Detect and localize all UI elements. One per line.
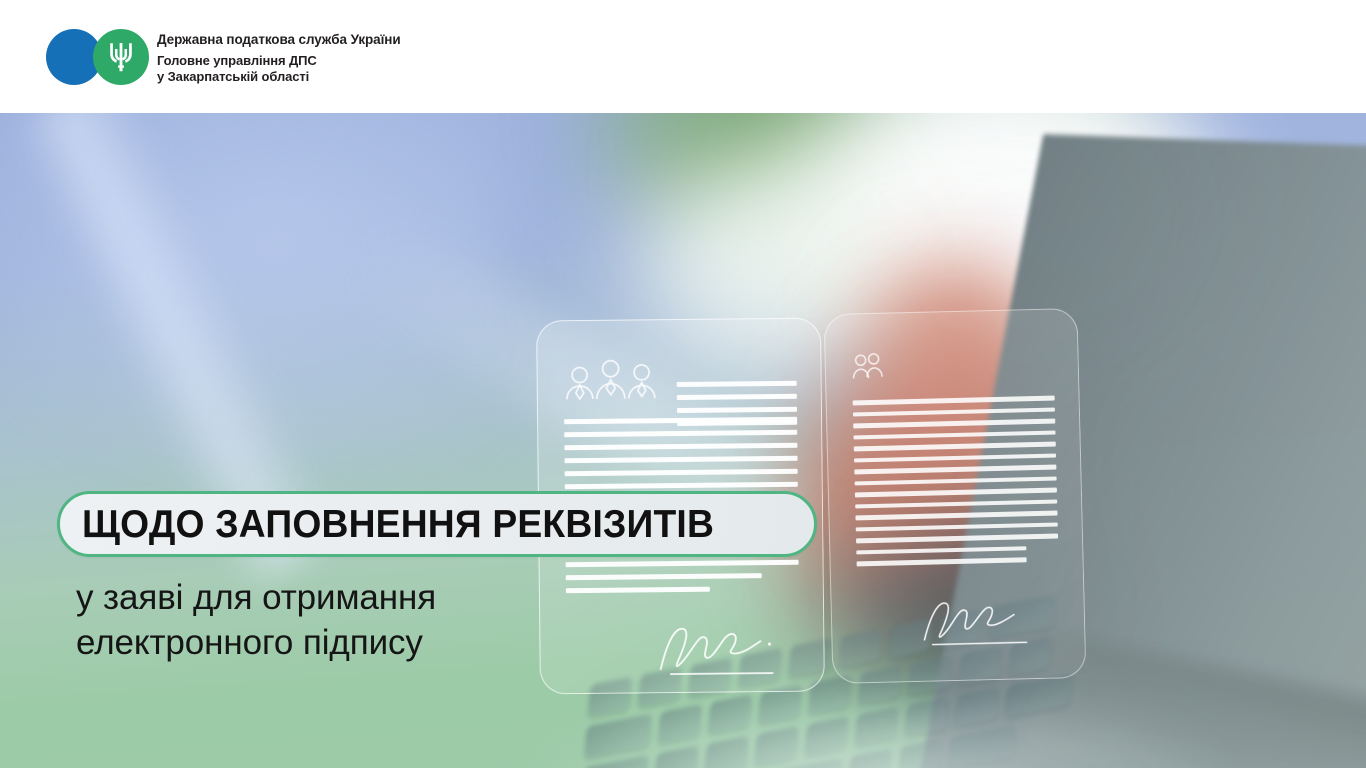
organisation-logo: [46, 29, 150, 85]
ukraine-trident-icon: [107, 40, 135, 74]
handwritten-signature-icon: [652, 620, 783, 682]
page-title: ЩОДО ЗАПОВНЕННЯ РЕКВІЗИТІВ: [82, 505, 714, 544]
org-title-line-1: Державна податкова служба України: [157, 31, 401, 48]
org-title-line-3: у Закарпатській області: [157, 69, 401, 85]
people-group-icon: [851, 348, 1054, 383]
subtitle-line-1: у заяві для отримання: [76, 575, 436, 620]
green-circle-icon: [93, 29, 149, 85]
document-header-lines: [677, 381, 798, 434]
hero-banner: ЩОДО ЗАПОВНЕННЯ РЕКВІЗИТІВ у заяві для о…: [0, 113, 1366, 768]
org-title-line-2: Головне управління ДПС: [157, 53, 401, 69]
banner-subtitle: у заяві для отримання електронного підпи…: [76, 575, 436, 665]
brand-block: Державна податкова служба України Головн…: [46, 29, 401, 85]
handwritten-signature-icon: [917, 593, 1036, 653]
document-card-back: [824, 308, 1087, 684]
document-card-content: [825, 309, 1086, 683]
light-haze-bottom: [520, 713, 1240, 768]
document-text-lines: [853, 396, 1059, 566]
banner-title-pill: ЩОДО ЗАПОВНЕННЯ РЕКВІЗИТІВ: [57, 491, 817, 557]
organisation-name: Державна податкова служба України Головн…: [157, 29, 401, 85]
site-header: Державна податкова служба України Головн…: [0, 0, 1366, 113]
banner-page: Державна податкова служба України Головн…: [0, 0, 1366, 768]
subtitle-line-2: електронного підпису: [76, 620, 436, 665]
